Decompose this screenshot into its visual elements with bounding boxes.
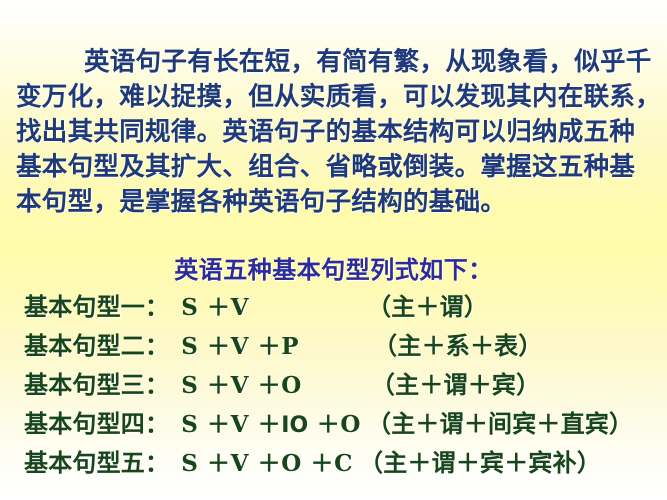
paragraph-line-3: 找出其共同规律。英语句子的基本结构可以归纳成五种 [16,115,661,150]
section-heading: 英语五种基本句型列式如下： [0,250,667,285]
paragraph-line-5: 本句型，是掌握各种英语句子结构的基础。 [16,185,661,220]
pattern-formula: S ＋V [181,288,249,322]
pattern-row: 基本句型二： S ＋V ＋P （主＋系＋表） [24,326,664,365]
sentence-pattern-list: 基本句型一： S ＋V （主＋谓） 基本句型二： S ＋V ＋P （主＋系＋表）… [24,287,664,482]
pattern-label: 基本句型二： [24,326,169,361]
pattern-formula: S ＋V ＋P [181,327,299,361]
pattern-row: 基本句型三： S ＋V ＋O （主＋谓＋宾） [24,365,664,404]
pattern-gloss: （主＋系＋表） [373,326,542,361]
pattern-formula: S ＋V ＋O [181,366,302,400]
slide-canvas: 英语句子有长在短，有简有繁，从现象看，似乎千 变万化，难以捉摸，但从实质看，可以… [0,0,667,500]
paragraph-line-2: 变万化，难以捉摸，但从实质看，可以发现其内在联系， [16,80,661,115]
pattern-label: 基本句型一： [24,287,169,322]
paragraph-line-1: 英语句子有长在短，有简有繁，从现象看，似乎千 [16,45,661,80]
pattern-formula: S ＋V ＋O ＋C [181,444,353,478]
formula-pre: S ＋V ＋O [181,372,302,399]
pattern-gloss: （主＋谓＋宾＋宾补） [359,443,601,478]
paragraph-line-4: 基本句型及其扩大、组合、省略或倒装。掌握这五种基 [16,150,661,185]
formula-pre: S ＋V [181,294,249,321]
pattern-row: 基本句型一： S ＋V （主＋谓） [24,287,664,326]
pattern-gloss: （主＋谓＋间宾＋直宾） [367,404,633,439]
pattern-label: 基本句型三： [24,365,169,400]
pattern-label: 基本句型四： [24,404,169,439]
formula-pre: S ＋V ＋P [181,333,299,360]
pattern-row: 基本句型五： S ＋V ＋O ＋C （主＋谓＋宾＋宾补） [24,443,664,482]
pattern-gloss: （主＋谓） [367,287,488,322]
formula-io-token: IO [281,413,308,438]
formula-pre: S ＋V ＋ [181,411,281,438]
pattern-formula: S ＋V ＋IO ＋O [181,405,361,439]
intro-paragraph: 英语句子有长在短，有简有繁，从现象看，似乎千 变万化，难以捉摸，但从实质看，可以… [16,45,661,220]
pattern-label: 基本句型五： [24,443,169,478]
pattern-row: 基本句型四： S ＋V ＋IO ＋O （主＋谓＋间宾＋直宾） [24,404,664,443]
formula-post: ＋O [308,411,361,438]
pattern-gloss: （主＋谓＋宾） [371,365,540,400]
formula-pre: S ＋V ＋O ＋C [181,450,353,477]
